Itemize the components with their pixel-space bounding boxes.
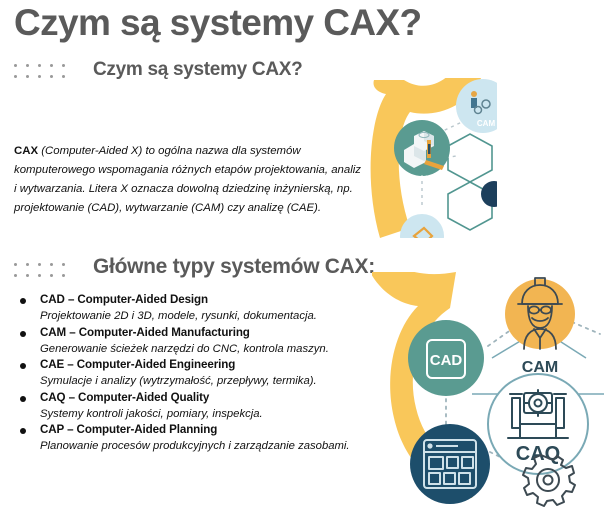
dot — [62, 64, 65, 67]
dot — [26, 64, 29, 67]
dot — [62, 274, 65, 277]
cam-node-label: CAM — [477, 119, 496, 128]
list-item: CAQ – Computer-Aided Quality Systemy kon… — [14, 390, 374, 423]
dot — [26, 75, 29, 78]
section-heading-types: Główne typy systemów CAX: — [93, 255, 375, 279]
planning-circle-node — [410, 424, 490, 504]
dot-grid-decoration-2 — [14, 259, 74, 281]
page-title: Czym są systemy CAX? — [14, 2, 422, 44]
dot — [14, 75, 17, 78]
dot — [38, 64, 41, 67]
list-item-title: CAQ – Computer-Aided Quality — [40, 390, 374, 406]
list-item-description: Generowanie ścieżek narzędzi do CNC, kon… — [40, 341, 374, 358]
dot — [14, 274, 17, 277]
list-item-description: Projektowanie 2D i 3D, modele, rysunki, … — [40, 308, 374, 325]
list-item: CAE – Computer-Aided Engineering Symulac… — [14, 357, 374, 390]
intro-paragraph: CAX (Computer-Aided X) to ogólna nazwa d… — [14, 142, 362, 218]
dot — [38, 263, 41, 266]
list-item: CAP – Computer-Aided Planning Planowanie… — [14, 422, 374, 455]
dot — [62, 75, 65, 78]
dot — [50, 64, 53, 67]
list-item-description: Systemy kontroli jakości, pomiary, inspe… — [40, 406, 374, 423]
list-item-title: CAE – Computer-Aided Engineering — [40, 357, 374, 373]
dot — [14, 64, 17, 67]
illustration-bottom-cax-diagram: CAD CAM — [372, 272, 606, 510]
list-item-description: Planowanie procesów produkcyjnych i zarz… — [40, 438, 374, 455]
dot — [26, 263, 29, 266]
dot — [62, 263, 65, 266]
illustration-top-cax-network: CAD CAM — [370, 78, 497, 238]
caq-label: CAQ — [516, 443, 560, 465]
dot — [14, 263, 17, 266]
slide-canvas: { "page": { "title": "Czym są systemy CA… — [0, 0, 606, 510]
section-heading-definition: Czym są systemy CAX? — [93, 59, 302, 81]
list-item-title: CAP – Computer-Aided Planning — [40, 422, 374, 438]
list-item: CAD – Computer-Aided Design Projektowani… — [14, 292, 374, 325]
dot — [50, 75, 53, 78]
dot-grid-decoration-1 — [14, 60, 74, 82]
list-item: CAM – Computer-Aided Manufacturing Gener… — [14, 325, 374, 358]
intro-paragraph-body: (Computer-Aided X) to ogólna nazwa dla s… — [14, 145, 361, 214]
list-item-description: Symulacje i analizy (wytrzymałość, przep… — [40, 373, 374, 390]
hexagon-outline-group — [448, 134, 492, 230]
cap-node-circle — [481, 181, 497, 207]
cad-node-label: CAD — [412, 174, 432, 184]
list-item-title: CAD – Computer-Aided Design — [40, 292, 374, 308]
dot — [50, 263, 53, 266]
dot — [26, 274, 29, 277]
list-item-title: CAM – Computer-Aided Manufacturing — [40, 325, 374, 341]
dot — [38, 274, 41, 277]
intro-paragraph-lead: CAX — [14, 145, 38, 157]
cad-circle-label: CAD — [430, 352, 463, 369]
dot — [50, 274, 53, 277]
cax-type-list: CAD – Computer-Aided Design Projektowani… — [14, 292, 374, 455]
dot — [38, 75, 41, 78]
